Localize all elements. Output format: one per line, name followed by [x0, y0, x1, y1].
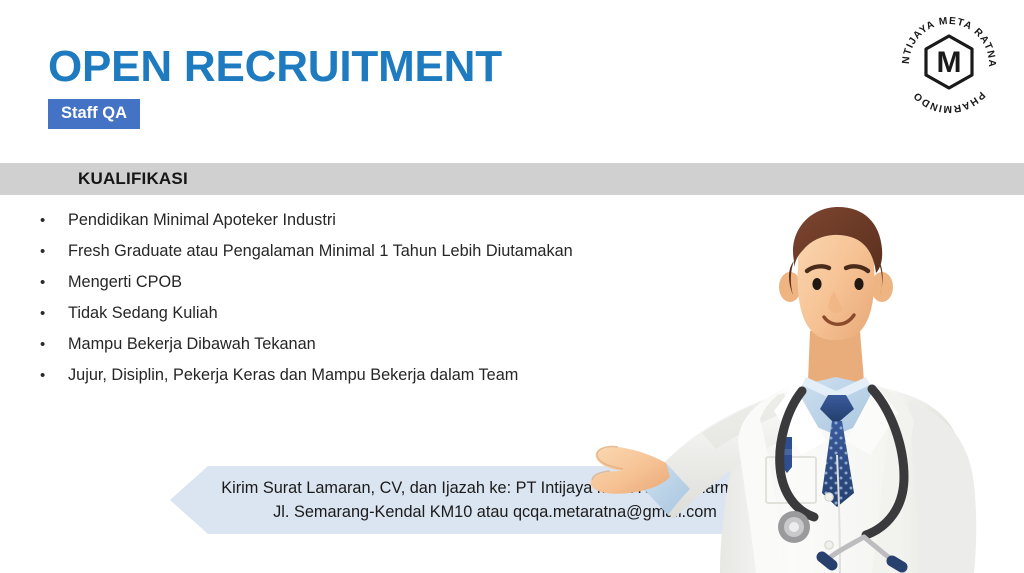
qualifications-list: • Pendidikan Minimal Apoteker Industri •… — [40, 211, 680, 397]
contact-line-2: Jl. Semarang-Kendal KM10 atau qcqa.metar… — [273, 500, 717, 524]
list-item-label: Jujur, Disiplin, Pekerja Keras dan Mampu… — [68, 366, 518, 386]
list-item: • Pendidikan Minimal Apoteker Industri — [40, 211, 680, 242]
section-title: KUALIFIKASI — [78, 169, 188, 189]
list-item: • Tidak Sedang Kuliah — [40, 304, 680, 335]
contact-line-1: Kirim Surat Lamaran, CV, dan Ijazah ke: … — [221, 476, 769, 500]
svg-text:PHARMINDO: PHARMINDO — [911, 89, 987, 114]
bullet-icon: • — [40, 306, 68, 321]
list-item: • Mengerti CPOB — [40, 273, 680, 304]
contact-banner: Kirim Surat Lamaran, CV, dan Ijazah ke: … — [170, 466, 790, 534]
bullet-icon: • — [40, 275, 68, 290]
list-item-label: Mampu Bekerja Dibawah Tekanan — [68, 335, 316, 355]
list-item: • Jujur, Disiplin, Pekerja Keras dan Mam… — [40, 366, 680, 397]
svg-text:M: M — [937, 46, 962, 79]
list-item-label: Mengerti CPOB — [68, 273, 182, 293]
recruitment-poster: OPEN RECRUITMENT Staff QA M INTIJAYA MET… — [0, 0, 1024, 573]
bullet-icon: • — [40, 213, 68, 228]
company-logo: M INTIJAYA META RATNA PHARMINDO — [893, 8, 1005, 120]
position-badge: Staff QA — [48, 99, 140, 129]
bullet-icon: • — [40, 244, 68, 259]
list-item-label: Pendidikan Minimal Apoteker Industri — [68, 211, 336, 231]
page-title: OPEN RECRUITMENT — [48, 44, 502, 90]
bullet-icon: • — [40, 337, 68, 352]
list-item-label: Fresh Graduate atau Pengalaman Minimal 1… — [68, 242, 573, 262]
list-item-label: Tidak Sedang Kuliah — [68, 304, 218, 324]
list-item: • Mampu Bekerja Dibawah Tekanan — [40, 335, 680, 366]
list-item: • Fresh Graduate atau Pengalaman Minimal… — [40, 242, 680, 273]
bullet-icon: • — [40, 368, 68, 383]
